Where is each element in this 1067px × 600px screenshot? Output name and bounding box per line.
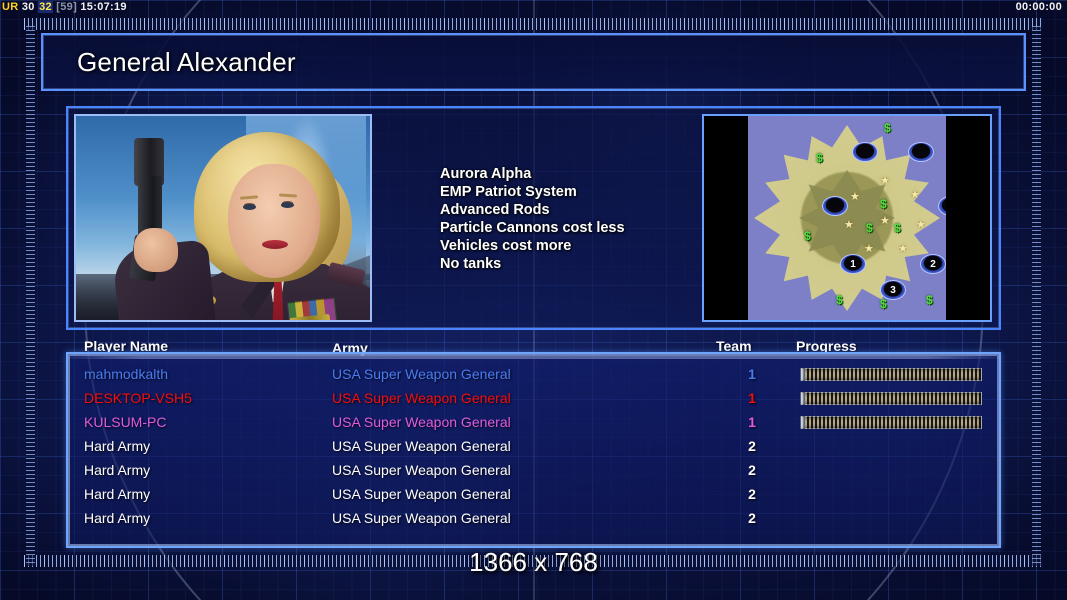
table-row[interactable]: Hard ArmyUSA Super Weapon General2 bbox=[84, 436, 1004, 460]
cell-player-name: Hard Army bbox=[84, 438, 150, 454]
cell-army: USA Super Weapon General bbox=[332, 366, 511, 382]
table-row[interactable]: KULSUM-PCUSA Super Weapon General1 bbox=[84, 412, 1004, 436]
map-waypoint-star-icon: ★ bbox=[898, 244, 908, 255]
map-supply-icon: $ bbox=[880, 298, 891, 310]
map-start-position[interactable] bbox=[822, 196, 848, 216]
page-title: General Alexander bbox=[77, 47, 296, 78]
frame-ruler-top bbox=[24, 18, 1043, 30]
cell-progress bbox=[800, 392, 982, 405]
portrait-face bbox=[228, 164, 320, 278]
cell-player-name: mahmodkalth bbox=[84, 366, 168, 382]
resolution-overlay: 1366 x 768 bbox=[0, 547, 1067, 578]
cell-team: 2 bbox=[744, 510, 760, 526]
cell-player-name: Hard Army bbox=[84, 486, 150, 502]
table-row[interactable]: Hard ArmyUSA Super Weapon General2 bbox=[84, 484, 1004, 508]
portrait-hand bbox=[134, 228, 178, 272]
map-supply-icon: $ bbox=[880, 198, 891, 210]
table-row[interactable]: mahmodkalthUSA Super Weapon General1 bbox=[84, 364, 1004, 388]
table-row[interactable]: DESKTOP-VSH5USA Super Weapon General1 bbox=[84, 388, 1004, 412]
map-waypoint-star-icon: ★ bbox=[844, 220, 854, 231]
map-supply-icon: $ bbox=[816, 152, 827, 164]
hud-value-2: 32 bbox=[38, 1, 53, 13]
frame-ruler-right bbox=[1032, 26, 1041, 566]
hud-bracket: [59] bbox=[56, 1, 77, 13]
portrait-lips bbox=[262, 240, 288, 249]
cell-player-name: DESKTOP-VSH5 bbox=[84, 390, 192, 406]
map-waypoint-star-icon: ★ bbox=[910, 190, 920, 201]
map-start-position[interactable]: 3 bbox=[880, 280, 906, 300]
cell-army: USA Super Weapon General bbox=[332, 462, 511, 478]
map-water: $$$$$$$$$$$★★★★★★★★123 bbox=[748, 116, 946, 320]
map-supply-icon: $ bbox=[836, 294, 847, 306]
cell-player-name: KULSUM-PC bbox=[84, 414, 166, 430]
map-supply-icon: $ bbox=[804, 230, 815, 242]
map-waypoint-star-icon: ★ bbox=[850, 192, 860, 203]
hud-timer: 00:00:00 bbox=[1016, 1, 1062, 13]
map-letterbox-left bbox=[704, 116, 748, 320]
ability-item: Vehicles cost more bbox=[440, 238, 625, 255]
map-preview[interactable]: $$$$$$$$$$$★★★★★★★★123 bbox=[702, 114, 992, 322]
map-waypoint-star-icon: ★ bbox=[916, 220, 926, 231]
map-supply-icon: $ bbox=[894, 222, 905, 234]
cell-team: 2 bbox=[744, 438, 760, 454]
progress-bar bbox=[800, 392, 982, 405]
cell-army: USA Super Weapon General bbox=[332, 438, 511, 454]
progress-bar bbox=[800, 416, 982, 429]
cell-team: 2 bbox=[744, 462, 760, 478]
general-portrait bbox=[74, 114, 372, 322]
cell-army: USA Super Weapon General bbox=[332, 390, 511, 406]
cell-progress bbox=[800, 368, 982, 381]
frame-ruler-left bbox=[26, 26, 35, 566]
table-row[interactable]: Hard ArmyUSA Super Weapon General2 bbox=[84, 508, 1004, 532]
cell-army: USA Super Weapon General bbox=[332, 510, 511, 526]
map-start-position[interactable]: 1 bbox=[840, 254, 866, 274]
player-table-rows: mahmodkalthUSA Super Weapon General1DESK… bbox=[84, 364, 1004, 532]
map-waypoint-star-icon: ★ bbox=[880, 216, 890, 227]
map-start-position[interactable] bbox=[852, 142, 878, 162]
cell-team: 1 bbox=[744, 390, 760, 406]
map-waypoint-star-icon: ★ bbox=[864, 244, 874, 255]
general-info-panel: Aurora Alpha EMP Patriot System Advanced… bbox=[66, 106, 1001, 330]
cell-army: USA Super Weapon General bbox=[332, 414, 511, 430]
portrait-eye bbox=[243, 204, 256, 210]
cell-army: USA Super Weapon General bbox=[332, 486, 511, 502]
ability-item: No tanks bbox=[440, 256, 625, 273]
hud-status-left: UR 30 32 [59] 15:07:19 bbox=[2, 1, 127, 13]
general-abilities-list: Aurora Alpha EMP Patriot System Advanced… bbox=[440, 166, 625, 273]
hud-tag: UR bbox=[2, 1, 19, 13]
map-start-position[interactable]: 2 bbox=[920, 254, 946, 274]
ability-item: Aurora Alpha bbox=[440, 166, 625, 183]
cell-progress bbox=[800, 416, 982, 429]
hud-value-1: 30 bbox=[22, 1, 35, 13]
cell-team: 1 bbox=[744, 414, 760, 430]
cell-team: 1 bbox=[744, 366, 760, 382]
ability-item: Particle Cannons cost less bbox=[440, 220, 625, 237]
map-start-position[interactable] bbox=[908, 142, 934, 162]
title-panel: General Alexander bbox=[41, 33, 1026, 91]
portrait-eye bbox=[281, 202, 294, 208]
ability-item: Advanced Rods bbox=[440, 202, 625, 219]
hud-clock: 15:07:19 bbox=[80, 1, 126, 13]
map-letterbox-right bbox=[946, 116, 990, 320]
map-waypoint-star-icon: ★ bbox=[880, 176, 890, 187]
map-supply-icon: $ bbox=[884, 122, 895, 134]
map-supply-icon: $ bbox=[926, 294, 937, 306]
ability-item: EMP Patriot System bbox=[440, 184, 625, 201]
cell-team: 2 bbox=[744, 486, 760, 502]
cell-player-name: Hard Army bbox=[84, 510, 150, 526]
cell-player-name: Hard Army bbox=[84, 462, 150, 478]
map-supply-icon: $ bbox=[866, 222, 877, 234]
table-row[interactable]: Hard ArmyUSA Super Weapon General2 bbox=[84, 460, 1004, 484]
progress-bar bbox=[800, 368, 982, 381]
